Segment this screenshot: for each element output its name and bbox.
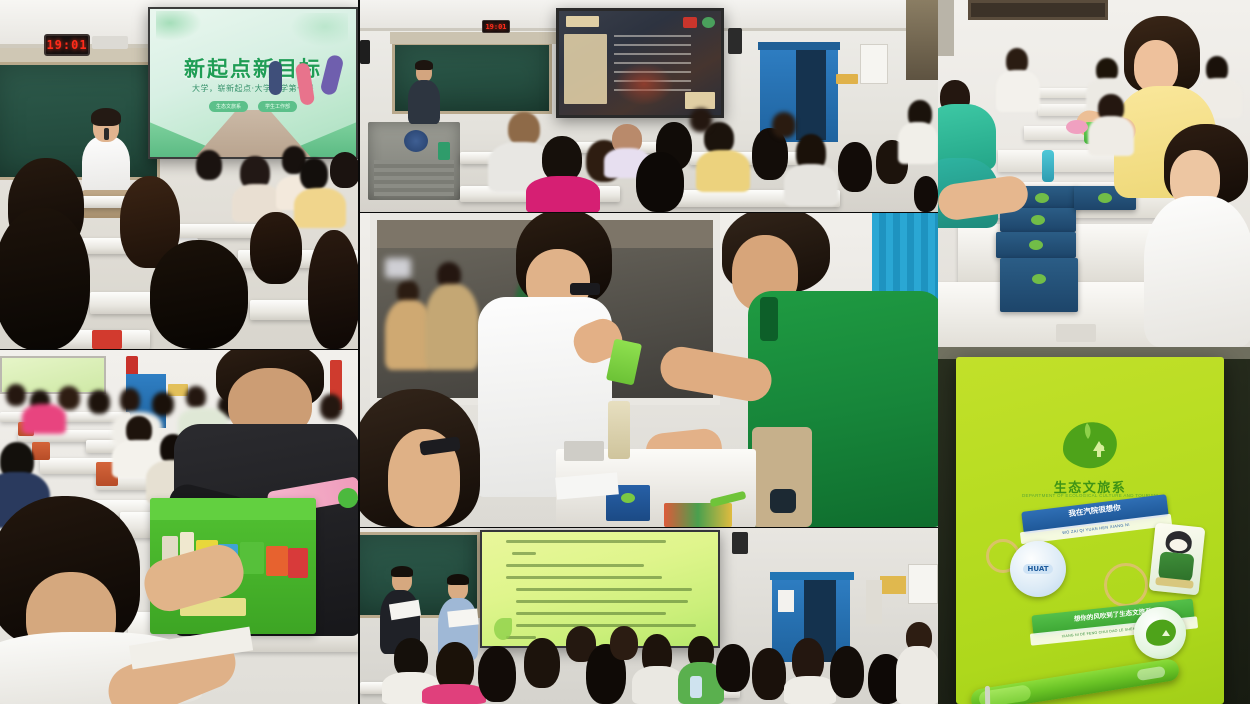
wristwatch <box>770 489 796 513</box>
water-bottle <box>690 676 702 698</box>
student-head <box>150 240 248 349</box>
projection-screen <box>556 8 724 118</box>
student-head <box>250 212 302 284</box>
podium <box>368 122 460 200</box>
pen-clip <box>985 686 990 704</box>
speaker-icon <box>732 532 748 554</box>
panel-green-basket-gifts: Staff member in black shirt passing a gr… <box>0 350 358 704</box>
eco-leaf-icon <box>494 618 512 640</box>
microphone-icon <box>104 128 109 140</box>
student-white-coat <box>1144 196 1250 347</box>
panel-teacher-student-exchange: Teacher in green polo handing items to s… <box>360 213 938 527</box>
panel-classroom-gift-boxes: Students at long white desks with navy b… <box>938 0 1250 347</box>
keyring <box>1104 563 1148 607</box>
speaker-icon <box>728 28 742 54</box>
gift-box <box>1000 258 1078 312</box>
student-head <box>308 230 358 349</box>
colorful-booklet <box>664 503 732 527</box>
panel-two-presenters: Two presenters reading from scripts in f… <box>360 528 938 704</box>
panel-orientation-lecture: 19:01 新起点新目标 大学，崭新起点·大学开学第一课 生态文旅系 学生工作部 <box>0 0 358 349</box>
projection-slide: 新起点新目标 大学，崭新起点·大学开学第一课 生态文旅系 学生工作部 <box>148 7 358 159</box>
green-pen <box>970 658 1181 704</box>
eco-logo-icon <box>1057 415 1123 475</box>
clock-time: 19:01 <box>485 23 506 31</box>
cartoon-charm <box>1149 523 1206 596</box>
digital-clock: 19:01 <box>44 34 90 56</box>
student-head <box>0 208 90 349</box>
script-paper <box>447 608 479 627</box>
slide-tag-left: 生态文旅系 <box>209 101 248 112</box>
water-bottle <box>1042 150 1054 182</box>
clock-time: 19:01 <box>46 38 87 52</box>
gift-box <box>996 232 1076 258</box>
keychain-green-disc <box>1134 607 1186 659</box>
lecturer-torso <box>82 136 130 198</box>
notebook: 生态文旅系 DEPARTMENT OF ECOLOGICAL CULTURE A… <box>956 357 1224 704</box>
keychain-blue-disc: HUAT <box>1010 541 1066 597</box>
photo-collage: 19:01 新起点新目标 大学，崭新起点·大学开学第一课 生态文旅系 学生工作部 <box>0 0 1250 704</box>
slide-tag-right: 学生工作部 <box>258 101 297 112</box>
glasses-icon <box>570 283 600 295</box>
wooden-tower <box>608 401 630 459</box>
green-projection-slide <box>480 530 720 648</box>
panel-dark-lecture-hall: 19:01 <box>360 0 938 212</box>
huat-label: HUAT <box>1023 564 1054 574</box>
panel-notebook-keychains: 生态文旅系 DEPARTMENT OF ECOLOGICAL CULTURE A… <box>938 347 1250 704</box>
chalkboard <box>0 62 160 180</box>
